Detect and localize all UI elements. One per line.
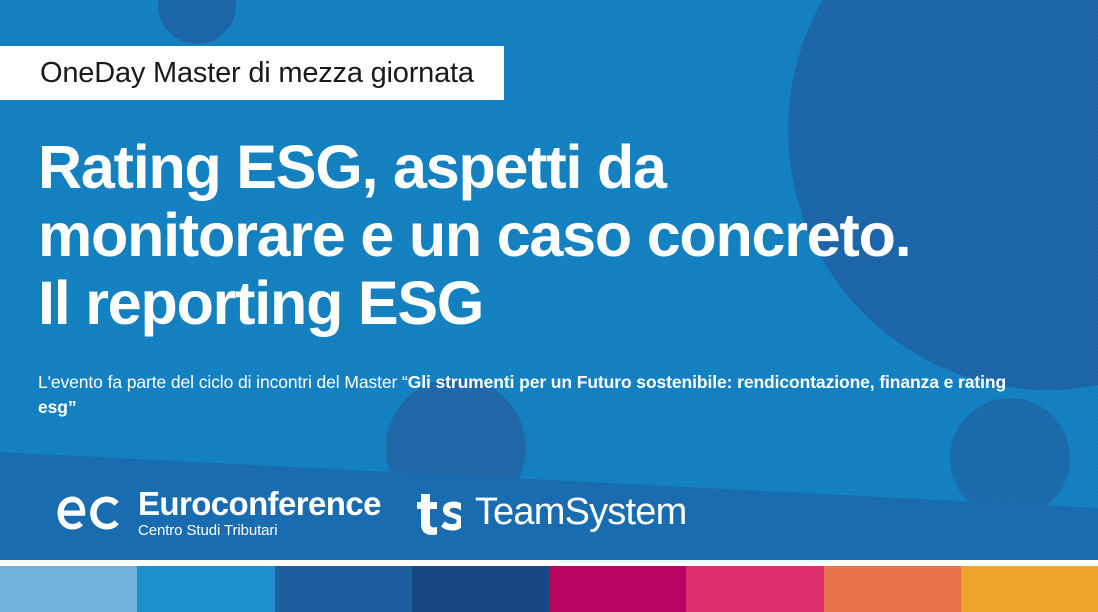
teamsystem-name: TeamSystem (475, 491, 687, 534)
color-swatch-pink (686, 566, 823, 612)
color-swatch-crimson-magenta (549, 566, 686, 612)
color-swatch-navy (412, 566, 549, 612)
euroconference-logo: Euroconference Centro Studi Tributari (52, 487, 381, 538)
promo-banner: OneDay Master di mezza giornata Rating E… (0, 0, 1098, 612)
eyebrow-label: OneDay Master di mezza giornata (0, 46, 504, 100)
color-swatch-orange (824, 566, 961, 612)
logo-row: Euroconference Centro Studi Tributari Te… (52, 487, 686, 538)
subtitle-trail: ” (68, 397, 77, 417)
headline-line-3: Il reporting ESG (38, 269, 1078, 337)
eyebrow-text: OneDay Master di mezza giornata (40, 57, 474, 90)
euroconference-logo-text: Euroconference Centro Studi Tributari (138, 487, 381, 538)
subtitle: L'evento fa parte del ciclo di incontri … (38, 370, 1018, 420)
subtitle-lead: L'evento fa parte del ciclo di incontri … (38, 372, 408, 392)
color-swatch-steel-blue (275, 566, 412, 612)
color-swatch-light-blue (0, 566, 137, 612)
ec-monogram-icon (52, 490, 126, 536)
brand-color-bar (0, 566, 1098, 612)
color-swatch-amber (961, 566, 1098, 612)
color-swatch-sky-blue (137, 566, 274, 612)
teamsystem-logo: TeamSystem (417, 490, 687, 536)
euroconference-tagline: Centro Studi Tributari (138, 523, 381, 538)
decorative-circle-top (158, 0, 236, 44)
headline-line-2: monitorare e un caso concreto. (38, 201, 1078, 269)
ts-monogram-icon (417, 490, 461, 536)
headline-line-1: Rating ESG, aspetti da (38, 133, 1078, 201)
euroconference-name: Euroconference (138, 487, 381, 520)
page-title: Rating ESG, aspetti da monitorare e un c… (38, 133, 1078, 337)
